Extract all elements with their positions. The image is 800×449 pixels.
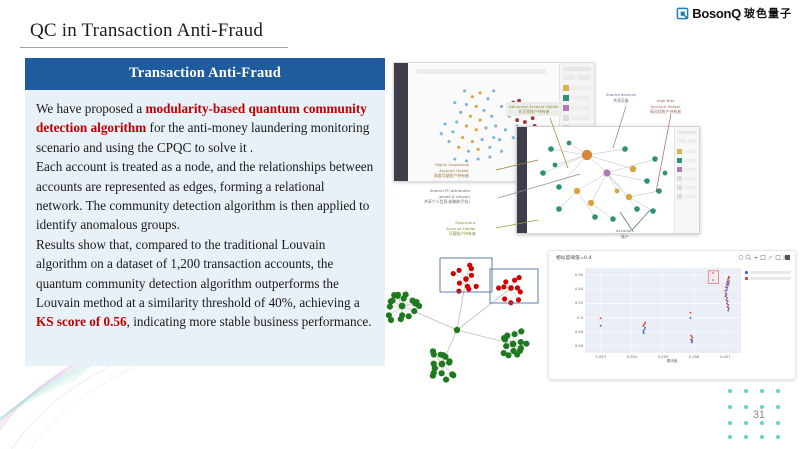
chart-plot-area[interactable]: 0.560.540.520.50.480.46 0.0530.0540.0550…	[585, 268, 741, 353]
chart-y-tick: 0.52	[575, 301, 583, 305]
callout-shared-pii: Shared PII attributes (email & phone) 共享…	[424, 188, 470, 205]
callout-suspicious: Suspicious Account Holder 可疑账户持有者	[446, 220, 476, 237]
callout-highly-suspicious-en1: Highly Suspicious	[434, 162, 469, 168]
content-card: Transaction Anti-Fraud We have proposed …	[25, 58, 385, 366]
page-title: QC in Transaction Anti-Fraud	[30, 20, 263, 42]
callout-shared-pii-en1: Shared PII attributes	[424, 188, 470, 194]
network-graph-svg	[378, 246, 558, 386]
chart-y-tick: 0.56	[575, 273, 583, 277]
plotly-toolbar-icons[interactable]	[738, 254, 790, 261]
dashboard-screenshot-panel: Highly Suspicious Account Holder 高度可疑账户持…	[388, 52, 796, 242]
run-1a: We have proposed a	[36, 101, 146, 116]
run-3a: Results show that, compared to the tradi…	[36, 237, 360, 310]
paragraph-3: Results show that, compared to the tradi…	[36, 235, 374, 332]
callout-highly-suspicious-cn: 高度可疑账户持有者	[434, 173, 469, 179]
callout-accounts-en1: Accounts	[616, 228, 634, 234]
callout-shared-devices-cn: 共享设备	[606, 98, 636, 104]
chart-points-svg	[585, 268, 741, 353]
callout-high-risk: High Risk Account Holder 高风险账户持有者	[650, 98, 681, 115]
run-2a: Each account is treated as a node, and t…	[36, 159, 373, 232]
chart-x-tick: 0.056	[689, 355, 699, 359]
card-header-title: Transaction Anti-Fraud	[25, 58, 385, 90]
callout-shared-devices-en1: Shared devices	[606, 92, 636, 98]
chart-y-tick: 0.5	[577, 316, 583, 320]
callout-abnormal-cn: 非正常账户持有者	[509, 109, 559, 115]
q-boson-mark-icon	[676, 7, 689, 20]
community-network-graph	[378, 246, 558, 386]
chart-toolbar[interactable]	[738, 254, 790, 261]
paragraph-2: Each account is treated as a node, and t…	[36, 157, 374, 235]
chart-x-tick: 0.054	[627, 355, 637, 359]
legend-dot-series-1	[745, 271, 748, 274]
paragraph-1: We have proposed a modularity-based quan…	[36, 99, 374, 157]
chart-y-tick: 0.46	[575, 344, 583, 348]
legend-dot-series-2	[745, 277, 748, 280]
callout-suspicious-cn: 可疑账户持有者	[446, 231, 476, 237]
callout-abnormal: Abnormal Account Holder 非正常账户持有者	[506, 102, 562, 116]
logo-chinese-name: 玻色量子	[744, 8, 792, 19]
callout-leader-lines	[388, 52, 796, 242]
legend-label-series-2	[750, 277, 792, 280]
chart-y-tick: 0.48	[575, 330, 583, 334]
chart-x-axis-label: 模块度	[667, 359, 678, 364]
callout-shared-pii-cn: 共享个人信息(邮箱和手机)	[424, 199, 470, 205]
legend-row-series-1[interactable]	[745, 271, 791, 274]
legend-row-series-2[interactable]	[745, 277, 791, 280]
title-underline	[20, 47, 288, 48]
chart-x-tick: 0.053	[595, 355, 605, 359]
run-3b-highlight: KS score of 0.56	[36, 314, 127, 329]
callout-accounts: Accounts 账户	[616, 228, 634, 239]
callout-accounts-cn: 账户	[616, 234, 634, 240]
callout-highly-suspicious: Highly Suspicious Account Holder 高度可疑账户持…	[434, 162, 469, 179]
logo-wordmark: BosonQ	[692, 7, 741, 20]
callout-high-risk-cn: 高风险账户持有者	[650, 109, 681, 115]
chart-legend[interactable]	[745, 271, 791, 283]
slide-root: BosonQ 玻色量子 QC in Transaction Anti-Fraud…	[0, 0, 800, 449]
chart-x-tick: 0.057	[720, 355, 730, 359]
page-number: 31	[753, 409, 765, 421]
ks-scatter-chart-card: 相似度阈值=0.4 0.560.540.520.50.480.46 0.0530…	[548, 250, 796, 380]
chart-y-tick: 0.54	[575, 287, 583, 291]
run-3c: , indicating more stable business perfor…	[127, 314, 372, 329]
card-body: We have proposed a modularity-based quan…	[25, 90, 385, 366]
callout-shared-devices: Shared devices 共享设备	[606, 92, 636, 103]
chart-title: 相似度阈值=0.4	[556, 255, 592, 261]
legend-label-series-1	[750, 271, 792, 274]
brand-logo: BosonQ 玻色量子	[676, 3, 792, 23]
